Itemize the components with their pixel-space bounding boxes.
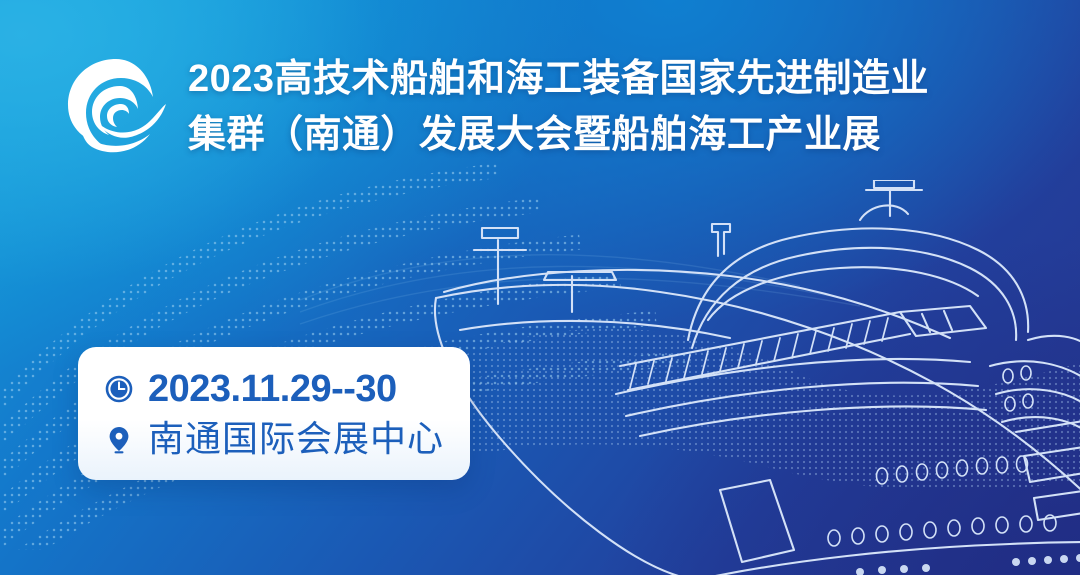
event-date: 2023.11.29--30 xyxy=(148,367,397,411)
cruise-ship-illustration xyxy=(430,180,1080,575)
banner-header: 2023高技术船舶和海工装备国家先进制造业 集群（南通）发展大会暨船舶海工产业展 xyxy=(62,52,929,162)
event-banner: 2023高技术船舶和海工装备国家先进制造业 集群（南通）发展大会暨船舶海工产业展… xyxy=(0,0,1080,575)
location-pin-icon xyxy=(104,424,134,454)
event-title: 2023高技术船舶和海工装备国家先进制造业 集群（南通）发展大会暨船舶海工产业展 xyxy=(188,52,929,162)
title-line-1: 2023高技术船舶和海工装备国家先进制造业 xyxy=(188,52,929,106)
event-venue-row: 南通国际会展中心 xyxy=(104,417,470,461)
title-line-2: 集群（南通）发展大会暨船舶海工产业展 xyxy=(188,108,929,162)
event-date-row: 2023.11.29--30 xyxy=(104,367,470,411)
clock-icon xyxy=(104,374,134,404)
wave-spiral-logo-icon xyxy=(62,53,170,161)
event-venue: 南通国际会展中心 xyxy=(148,417,444,461)
event-info-card: 2023.11.29--30 南通国际会展中心 xyxy=(78,347,470,480)
